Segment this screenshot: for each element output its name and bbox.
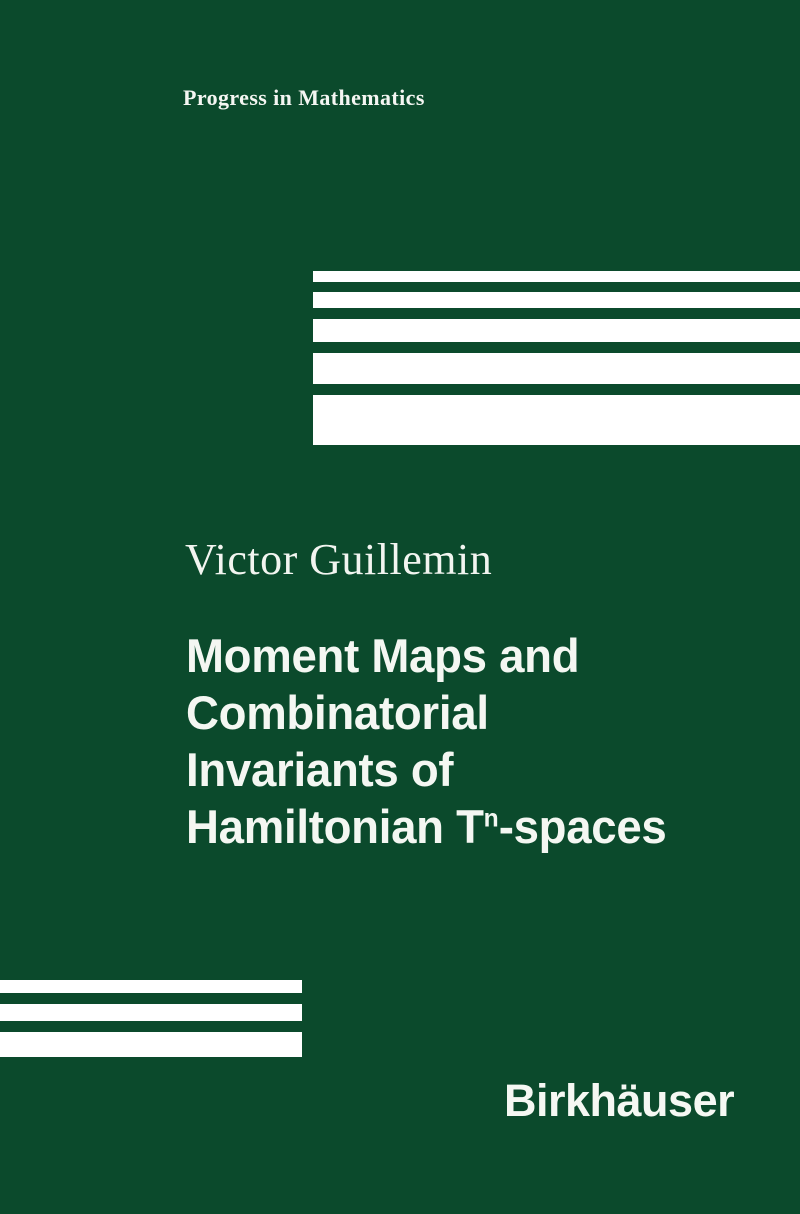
title-superscript: n [484,804,499,832]
bottom-bar-decoration [0,980,302,1057]
decoration-gap [313,308,800,319]
decoration-gap [313,282,800,292]
decoration-gap [313,342,800,353]
publisher-logo: Birkhäuser [504,1075,734,1127]
decoration-bar [313,319,800,342]
decoration-gap [313,384,800,395]
title-line-3: Invariants of [186,741,768,798]
decoration-gap [0,1021,302,1032]
author-name: Victor Guillemin [185,534,492,585]
book-title: Moment Maps and Combinatorial Invariants… [186,627,786,855]
decoration-bar [313,271,800,282]
top-bar-decoration [313,271,800,445]
title-line-1: Moment Maps and [186,627,768,684]
decoration-bar [0,1004,302,1021]
title-line-2: Combinatorial [186,684,768,741]
decoration-gap [0,993,302,1004]
book-cover: Progress in Mathematics Victor Guillemin… [0,0,800,1214]
decoration-bar [0,980,302,993]
series-title: Progress in Mathematics [183,85,425,111]
decoration-bar [0,1032,302,1057]
title-line-4-head: Hamiltonian T [186,800,484,853]
decoration-bar [313,395,800,445]
decoration-bar [313,292,800,308]
decoration-bar [313,353,800,384]
title-line-4: Hamiltonian Tn-spaces [186,798,768,855]
title-line-4-tail: -spaces [499,800,667,853]
